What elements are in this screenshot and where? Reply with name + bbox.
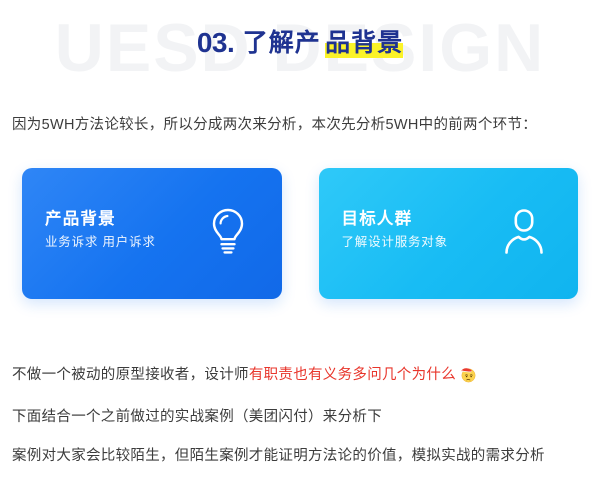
card-subtitle: 业务诉求 用户诉求 bbox=[45, 232, 156, 252]
card-subtitle: 了解设计服务对象 bbox=[342, 232, 448, 252]
lightbulb-icon bbox=[206, 206, 250, 256]
note-line-1: 不做一个被动的原型接收者，设计师有职责也有义务多问几个为什么 bbox=[12, 364, 477, 390]
page-title: 03. 了解产 品背景 bbox=[0, 26, 600, 60]
user-icon bbox=[502, 206, 546, 256]
page-title-highlight: 品背景 bbox=[325, 29, 403, 58]
card-title: 产品背景 bbox=[45, 208, 156, 230]
card-row: 产品背景 业务诉求 用户诉求 目标人群 了解设计服务对象 bbox=[22, 168, 578, 299]
page-title-number: 03. bbox=[197, 27, 234, 58]
note-line-1-emphasis: 有职责也有义务多问几个为什么 bbox=[249, 367, 456, 383]
note-line-1-plain: 不做一个被动的原型接收者，设计师 bbox=[12, 367, 249, 383]
card-text-block: 目标人群 了解设计服务对象 bbox=[342, 208, 448, 252]
angry-face-with-headband-emoji bbox=[460, 371, 477, 387]
page-header: UESD DESIGN 03. 了解产 品背景 bbox=[0, 0, 600, 96]
card-target-audience[interactable]: 目标人群 了解设计服务对象 bbox=[319, 168, 579, 299]
page-title-plain: 了解产 bbox=[243, 29, 321, 57]
card-text-block: 产品背景 业务诉求 用户诉求 bbox=[45, 208, 156, 252]
note-line-2: 下面结合一个之前做过的实战案例（美团闪付）来分析下 bbox=[12, 406, 382, 428]
note-line-3: 案例对大家会比较陌生，但陌生案例才能证明方法论的价值，模拟实战的需求分析 bbox=[12, 445, 545, 467]
card-title: 目标人群 bbox=[342, 208, 448, 230]
card-product-background[interactable]: 产品背景 业务诉求 用户诉求 bbox=[22, 168, 282, 299]
intro-paragraph: 因为5WH方法论较长，所以分成两次来分析，本次先分析5WH中的前两个环节： bbox=[12, 114, 537, 136]
